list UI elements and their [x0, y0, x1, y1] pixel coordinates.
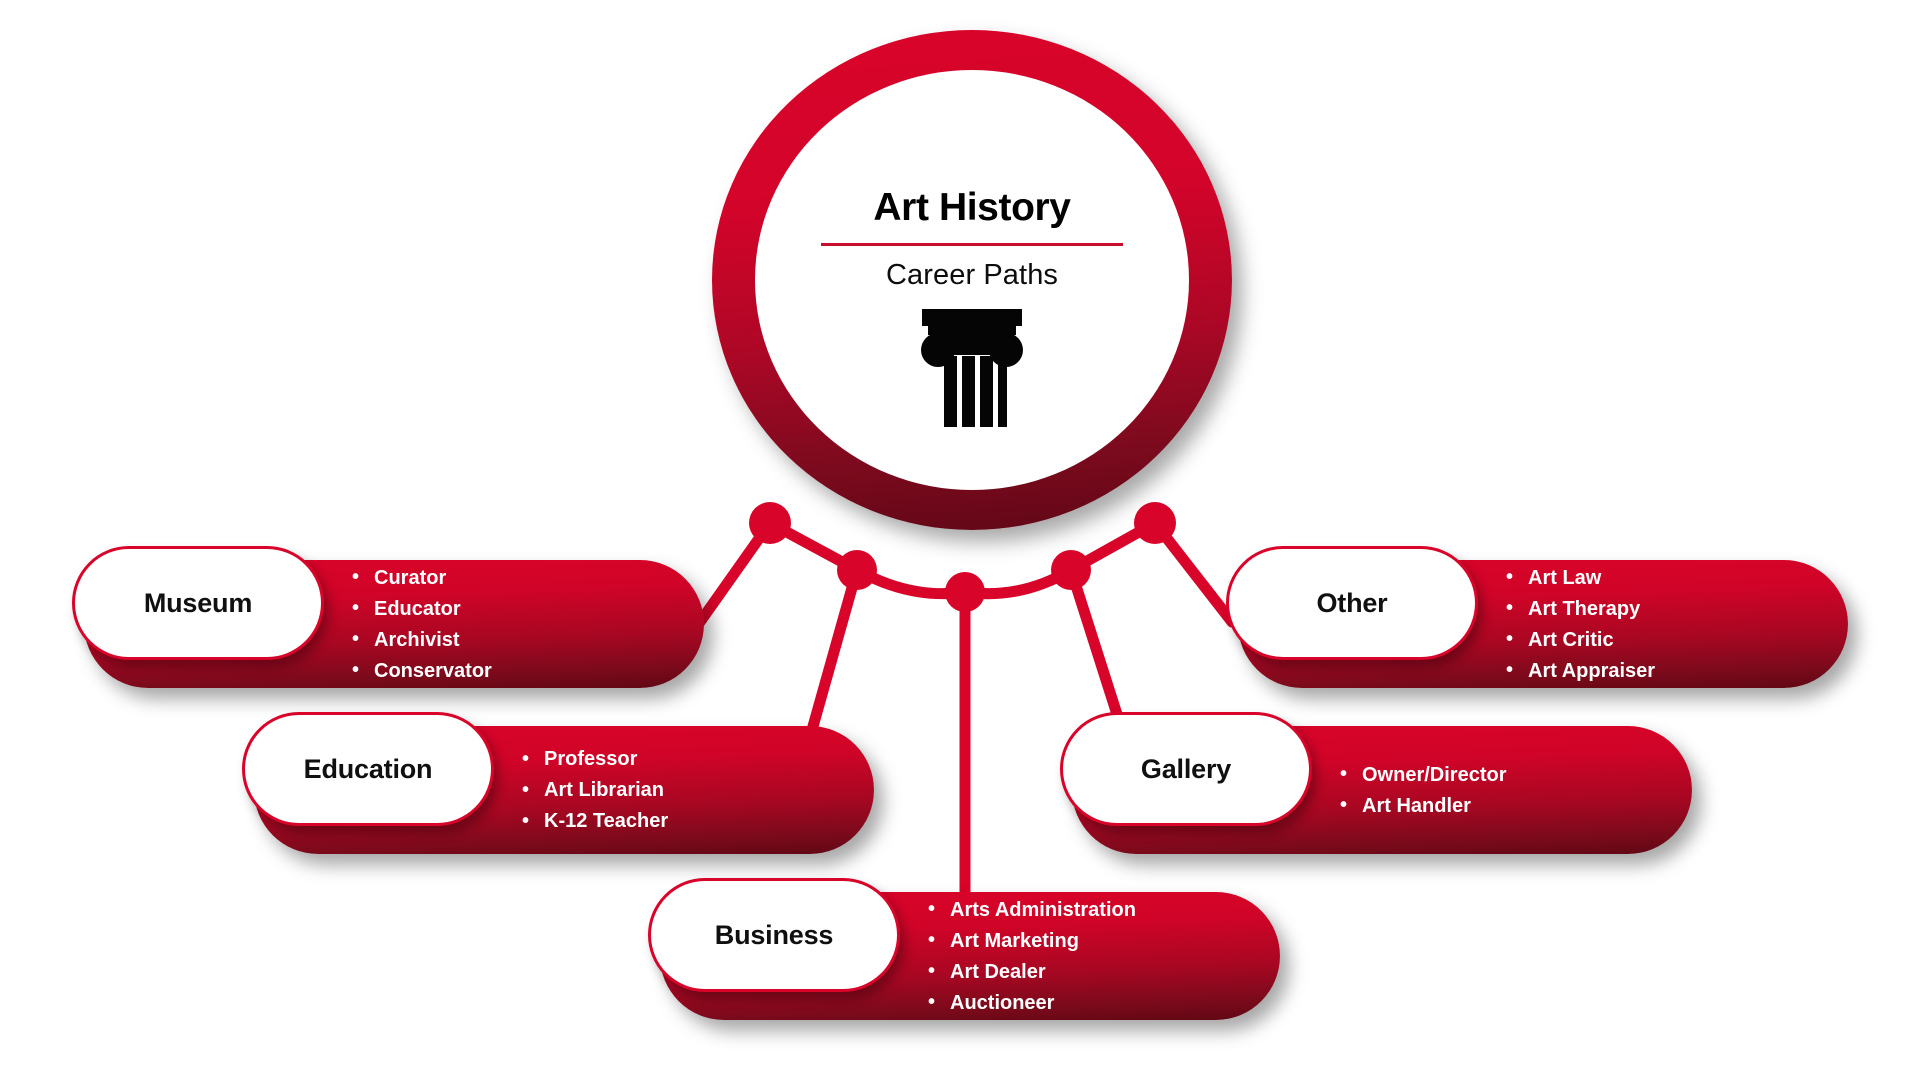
drop-to-museum — [700, 523, 770, 622]
branch-gallery-label: Gallery — [1141, 754, 1231, 785]
node-gallery[interactable] — [1051, 550, 1091, 590]
list-item: Auctioneer — [928, 987, 1136, 1018]
page-title: Art History — [873, 188, 1070, 227]
branch-education-label-capsule[interactable]: Education — [242, 712, 494, 826]
central-hub: Art History Career Paths — [712, 30, 1232, 530]
list-item: K-12 Teacher — [522, 806, 668, 837]
link-museum-education — [770, 523, 857, 570]
branch-business-label: Business — [715, 920, 833, 951]
branch-business-list: Arts Administration Art Marketing Art De… — [928, 894, 1136, 1018]
list-item: Art Marketing — [928, 925, 1136, 956]
list-item: Professor — [522, 744, 668, 775]
list-item: Art Critic — [1506, 624, 1655, 655]
branch-other-list: Art Law Art Therapy Art Critic Art Appra… — [1506, 562, 1655, 686]
list-item: Art Law — [1506, 562, 1655, 593]
list-item: Art Handler — [1340, 790, 1506, 821]
branch-education-label: Education — [304, 754, 433, 785]
list-item: Educator — [352, 593, 492, 624]
drop-to-education — [812, 570, 857, 730]
branch-education-list: Professor Art Librarian K-12 Teacher — [522, 744, 668, 837]
node-education[interactable] — [837, 550, 877, 590]
branch-other-label: Other — [1316, 588, 1387, 619]
infographic-canvas: Art History Career Paths — [0, 0, 1920, 1080]
drop-to-gallery — [1071, 570, 1122, 730]
branch-other-label-capsule[interactable]: Other — [1226, 546, 1478, 660]
branch-other[interactable]: Other Art Law Art Therapy Art Critic Art… — [1238, 560, 1848, 688]
list-item: Curator — [352, 562, 492, 593]
link-gallery-other — [1071, 523, 1155, 570]
drop-to-other — [1155, 523, 1232, 622]
branch-gallery-label-capsule[interactable]: Gallery — [1060, 712, 1312, 826]
branch-business[interactable]: Business Arts Administration Art Marketi… — [660, 892, 1280, 1020]
hub-content: Art History Career Paths — [755, 70, 1189, 490]
link-business-gallery — [965, 570, 1071, 594]
branch-education[interactable]: Education Professor Art Librarian K-12 T… — [254, 726, 874, 854]
branch-museum-label-capsule[interactable]: Museum — [72, 546, 324, 660]
branch-business-label-capsule[interactable]: Business — [648, 878, 900, 992]
list-item: Owner/Director — [1340, 759, 1506, 790]
list-item: Conservator — [352, 655, 492, 686]
node-business[interactable] — [945, 572, 985, 612]
page-subtitle: Career Paths — [886, 259, 1058, 292]
branch-museum-list: Curator Educator Archivist Conservator — [352, 562, 492, 686]
list-item: Art Appraiser — [1506, 655, 1655, 686]
list-item: Archivist — [352, 624, 492, 655]
title-divider — [821, 243, 1123, 246]
branch-gallery-list: Owner/Director Art Handler — [1340, 759, 1506, 821]
link-education-business — [857, 570, 965, 594]
list-item: Art Therapy — [1506, 593, 1655, 624]
ionic-column-icon — [908, 309, 1036, 432]
list-item: Art Dealer — [928, 956, 1136, 987]
branch-museum[interactable]: Museum Curator Educator Archivist Conser… — [84, 560, 704, 688]
list-item: Arts Administration — [928, 894, 1136, 925]
branch-gallery[interactable]: Gallery Owner/Director Art Handler — [1072, 726, 1692, 854]
branch-museum-label: Museum — [144, 588, 252, 619]
list-item: Art Librarian — [522, 775, 668, 806]
